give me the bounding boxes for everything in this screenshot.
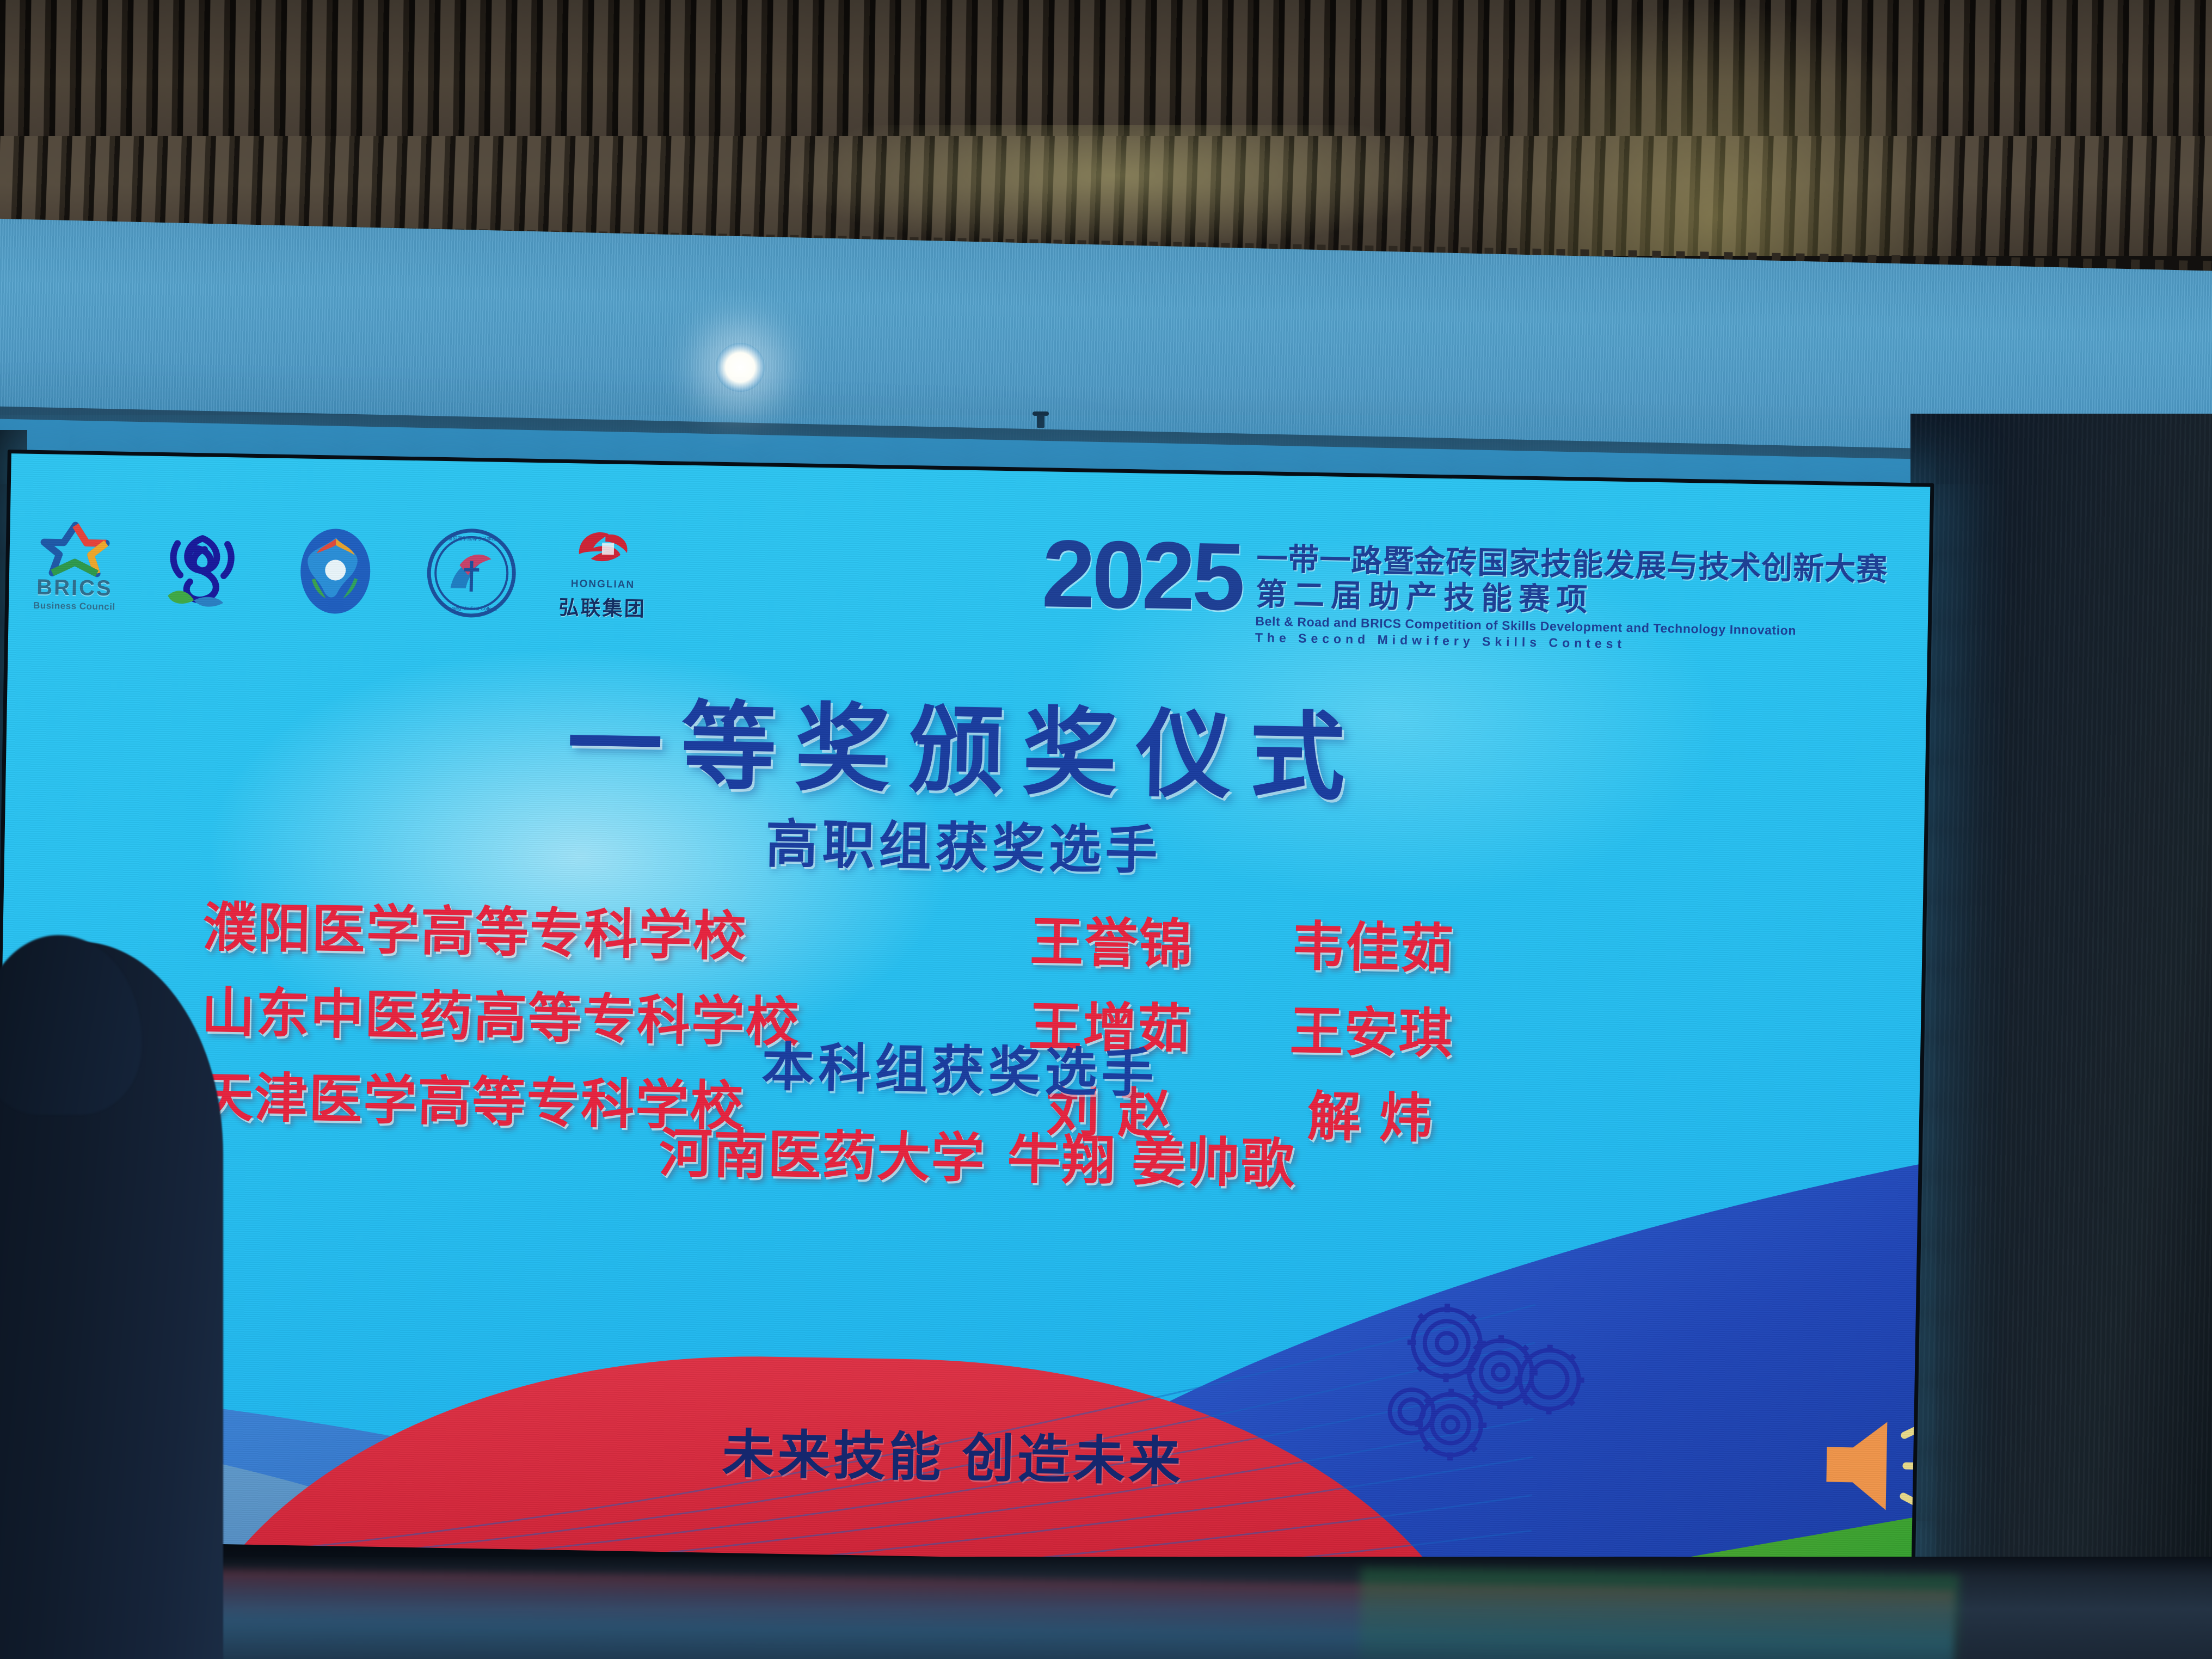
blue-wave-band xyxy=(800,1142,1931,1583)
honglian-cn-text: 弘联集团 xyxy=(558,591,646,622)
logo-brics-business-council: BRICS Business Council xyxy=(33,519,117,613)
medical-seal-icon: 濮阳医学高等专科学校 Puyang Medical College xyxy=(425,526,518,619)
winner-name-1: 王誉锦 xyxy=(980,898,1243,979)
floor-reflection-green xyxy=(1360,1568,1959,1659)
sponsor-logo-row: BRICS Business Council xyxy=(33,511,648,622)
right-wall xyxy=(1910,414,2212,1557)
event-year: 2025 xyxy=(1041,532,1243,619)
winner-school: 河南医药大学 xyxy=(463,1107,1008,1193)
knot-emblem-icon xyxy=(157,529,246,615)
right-wall-texture xyxy=(1910,414,2212,1557)
logo-medical-college-seal: 濮阳医学高等专科学校 Puyang Medical College xyxy=(425,526,518,619)
winner-names: 牛翔 姜帅歌 xyxy=(1006,1116,1454,1201)
logo-star-circle-emblem xyxy=(287,526,384,617)
downlight-icon xyxy=(716,343,765,392)
honglian-en-text: HONGLIAN xyxy=(571,578,635,591)
ceiling-glow-right xyxy=(1470,0,1959,256)
event-header-lines: 一带一路暨金砖国家技能发展与技术创新大赛 第二届助产技能赛项 Belt & Ro… xyxy=(1255,536,1888,656)
winner-school: 濮阳医学高等专科学校 xyxy=(1,881,982,975)
event-header: 2025 一带一路暨金砖国家技能发展与技术创新大赛 第二届助产技能赛项 Belt… xyxy=(1041,532,1888,656)
winner-name-2: 韦佳茹 xyxy=(1242,902,1504,984)
logo-honglian-group: HONGLIAN 弘联集团 xyxy=(558,520,647,622)
led-canvas: BRICS Business Council xyxy=(0,451,1931,1583)
svg-text:Puyang Medical College: Puyang Medical College xyxy=(444,605,497,612)
brics-wordmark: BRICS xyxy=(36,576,113,599)
ceiling-glow-center xyxy=(789,125,1442,250)
event-slogan: 未来技能 创造未来 xyxy=(0,1399,1914,1508)
star-circle-icon xyxy=(287,526,384,617)
sprinkler-icon xyxy=(1037,414,1044,428)
logo-blue-knot-emblem xyxy=(157,529,246,615)
led-display-screen: BRICS Business Council xyxy=(0,451,1931,1583)
honglian-mark-icon xyxy=(568,520,640,576)
green-wave-band xyxy=(992,1201,1931,1583)
svg-text:濮阳医学高等专科学校: 濮阳医学高等专科学校 xyxy=(447,535,496,542)
brics-star-icon xyxy=(34,519,116,578)
venue-photo: BRICS Business Council xyxy=(0,0,2212,1659)
brics-subtitle: Business Council xyxy=(33,600,115,613)
